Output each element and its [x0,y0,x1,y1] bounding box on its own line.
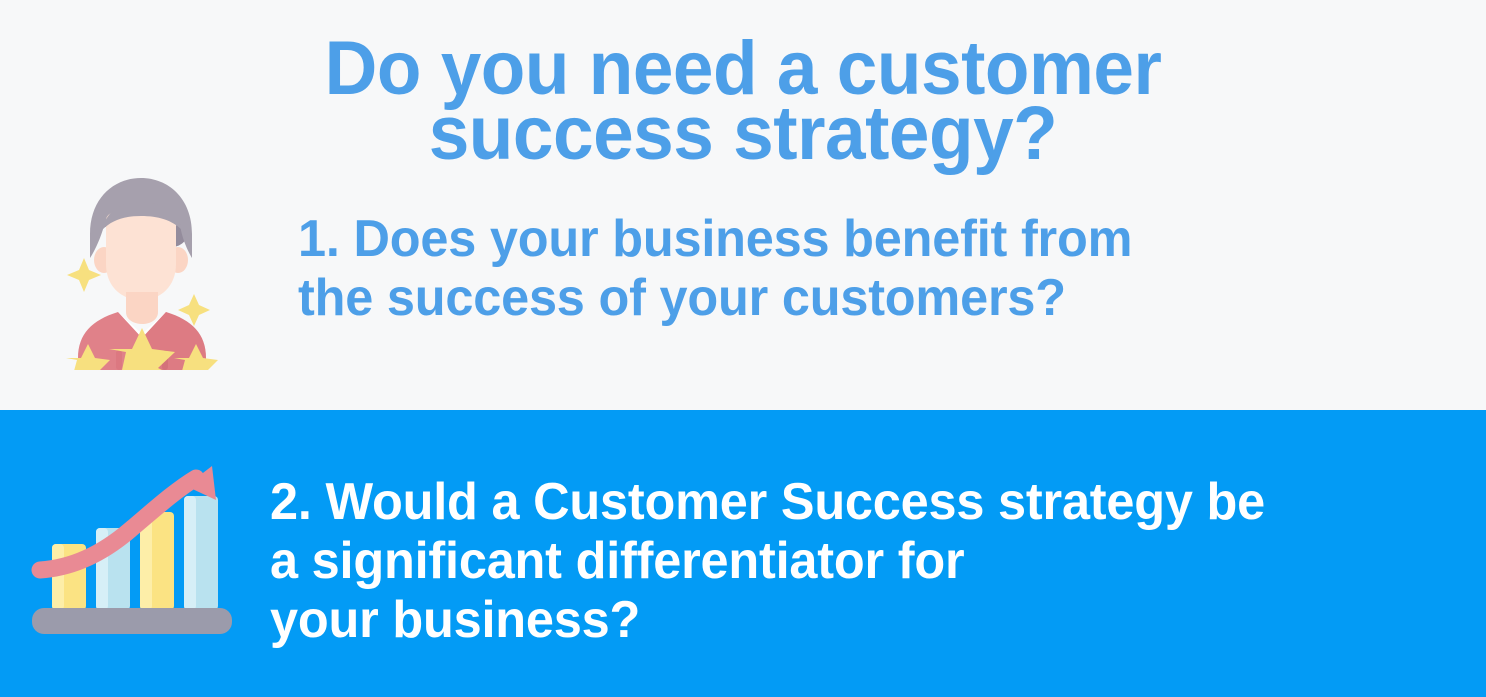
question-2-line-2: a significant differentiator for [270,532,1444,591]
infographic-slide: Do you need a customer success strategy? [0,0,1486,697]
question-1-line-2: the success of your customers? [298,269,1278,328]
page-title-line-2: success strategy? [263,101,1223,166]
question-1-text: 1. Does your business benefit from the s… [298,210,1278,328]
question-2-text: 2. Would a Customer Success strategy be … [270,473,1444,649]
growth-chart-icon [26,452,238,644]
question-1-line-1: 1. Does your business benefit from [298,210,1278,269]
question-2-line-1: 2. Would a Customer Success strategy be [270,473,1444,532]
page-title: Do you need a customer success strategy? [263,36,1223,167]
satisfied-customer-icon [62,172,222,370]
question-2-line-3: your business? [270,591,1444,650]
